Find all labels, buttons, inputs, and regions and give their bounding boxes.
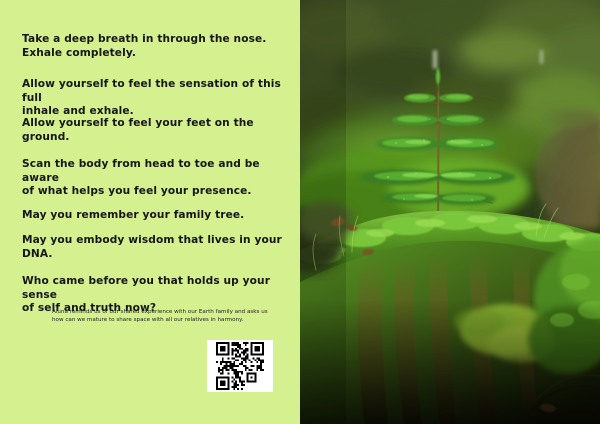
mindfulness-card: Take a deep breath in through the nose. … xyxy=(0,0,600,424)
footnote-text: Aluna reminds us of our shared experienc… xyxy=(52,308,282,324)
qr-code[interactable] xyxy=(207,340,273,392)
prompt-sensation: Allow yourself to feel the sensation of … xyxy=(22,78,284,119)
text-panel: Take a deep breath in through the nose. … xyxy=(0,0,300,424)
prompt-family-tree: May you remember your family tree. xyxy=(22,209,284,223)
prompt-body-scan: Scan the body from head to toe and be aw… xyxy=(22,158,284,199)
qr-code-image[interactable] xyxy=(216,342,264,390)
prompt-breath: Take a deep breath in through the nose. … xyxy=(22,33,284,60)
prompt-feet-ground: Allow yourself to feel your feet on the … xyxy=(22,117,284,144)
prompt-dna-wisdom: May you embody wisdom that lives in your… xyxy=(22,234,284,261)
forest-stump-sapling-photo xyxy=(300,0,600,424)
